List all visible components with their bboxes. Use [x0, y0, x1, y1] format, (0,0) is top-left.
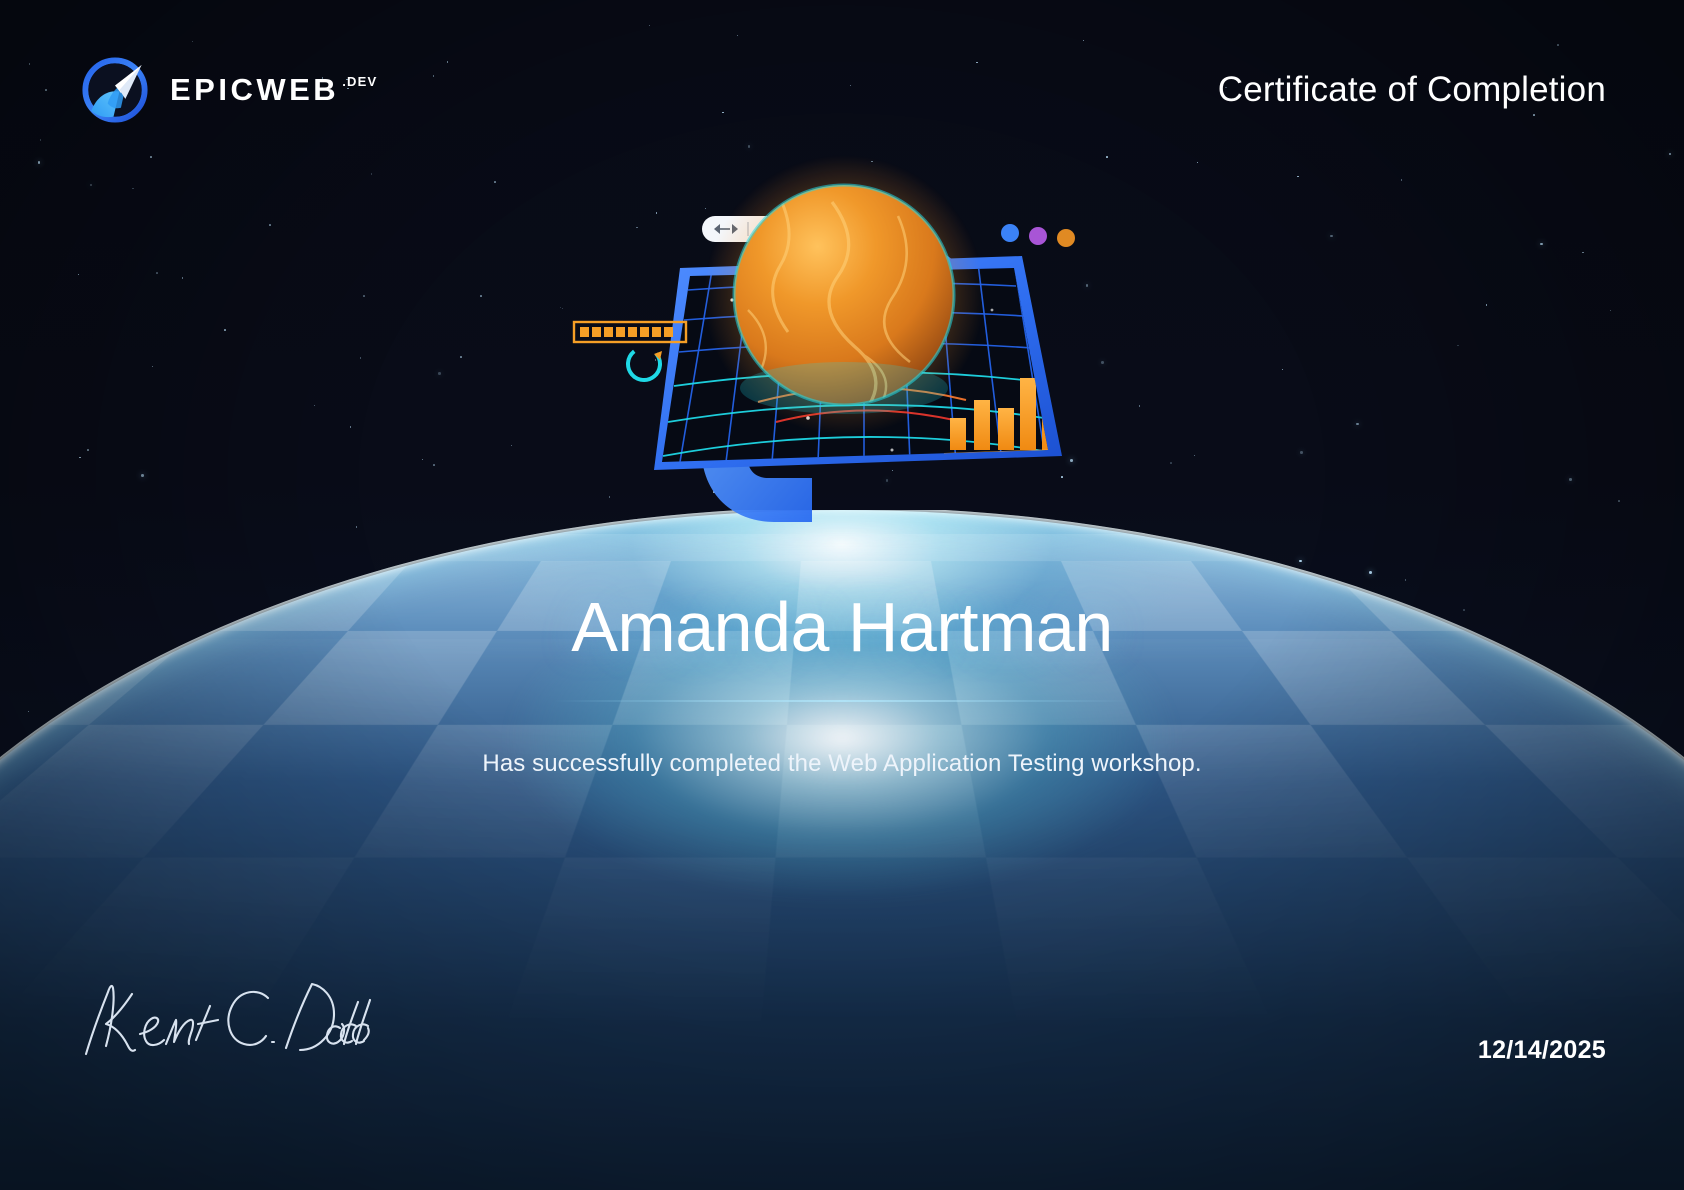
divider — [554, 700, 1130, 702]
refresh-spinner-icon — [621, 341, 666, 386]
brand-lockup: EPICWEB .DEV — [78, 53, 377, 127]
planet-base-glow — [740, 362, 948, 414]
certificate-canvas: EPICWEB .DEV Certificate of Completion — [0, 0, 1684, 1190]
brand-name: EPICWEB — [170, 72, 339, 108]
signature — [72, 962, 372, 1072]
loading-progress-bar — [574, 322, 686, 342]
recipient-name: Amanda Hartman — [0, 590, 1684, 666]
page-title: Certificate of Completion — [1218, 70, 1606, 110]
issue-date: 12/14/2025 — [1478, 1036, 1606, 1065]
certificate-header: EPICWEB .DEV Certificate of Completion — [0, 0, 1684, 180]
window-dots — [1001, 224, 1075, 247]
certificate-body: Amanda Hartman Has successfully complete… — [0, 590, 1684, 778]
completion-statement: Has successfully completed the Web Appli… — [0, 750, 1684, 778]
brand-tld: .DEV — [342, 74, 377, 89]
planet-over-browser-grid-illustration — [562, 150, 1122, 550]
epicweb-rocket-logo-icon — [78, 53, 152, 127]
brand-wordmark: EPICWEB .DEV — [170, 72, 377, 108]
